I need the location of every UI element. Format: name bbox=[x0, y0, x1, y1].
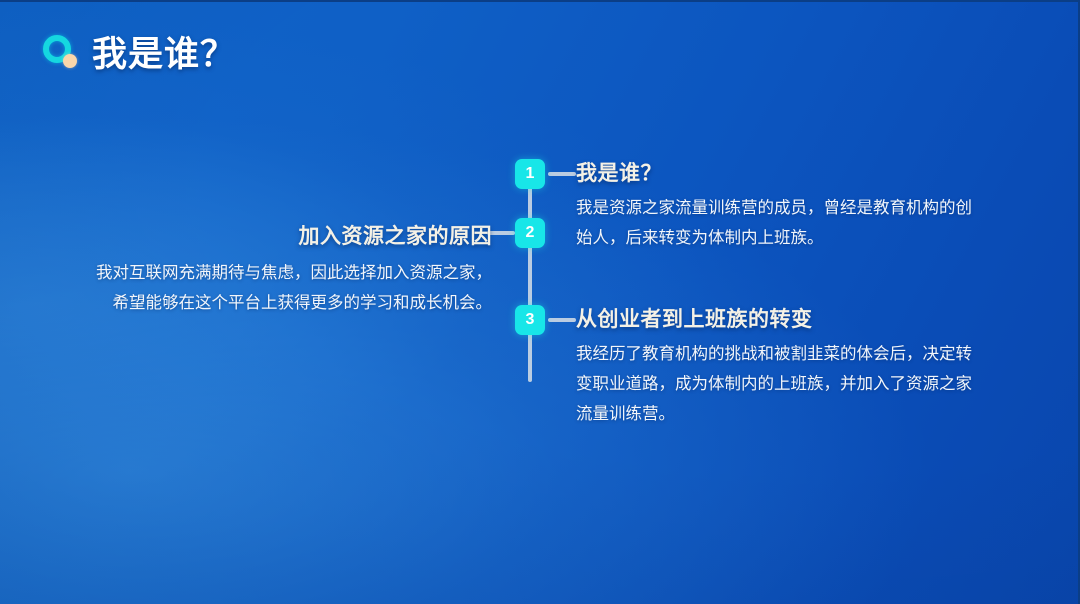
brand-logo bbox=[42, 34, 78, 70]
slide-canvas: 我是谁？ 1 2 3 我是谁？ 我是资源之家流量训练营的成员，曾经是教育机构的创… bbox=[0, 0, 1080, 604]
logo-accent-dot-icon bbox=[63, 54, 77, 68]
connector-line-1 bbox=[548, 172, 576, 176]
timeline-item-2-body: 我对互联网充满期待与焦虑，因此选择加入资源之家，希望能够在这个平台上获得更多的学… bbox=[88, 258, 492, 318]
page-title: 我是谁？ bbox=[92, 26, 236, 77]
slide-header: 我是谁？ bbox=[42, 26, 236, 77]
timeline-item-3: 从创业者到上班族的转变 我经历了教育机构的挑战和被割韭菜的体会后，决定转变职业道… bbox=[576, 303, 972, 429]
timeline-marker-3[interactable]: 3 bbox=[515, 305, 545, 335]
timeline-item-3-body: 我经历了教育机构的挑战和被割韭菜的体会后，决定转变职业道路，成为体制内的上班族，… bbox=[576, 339, 972, 429]
timeline-item-2-title: 加入资源之家的原因 bbox=[88, 220, 492, 250]
timeline-item-1: 我是谁？ 我是资源之家流量训练营的成员，曾经是教育机构的创始人，后来转变为体制内… bbox=[576, 157, 972, 253]
timeline-marker-2[interactable]: 2 bbox=[515, 218, 545, 248]
timeline-item-3-title: 从创业者到上班族的转变 bbox=[576, 303, 972, 333]
timeline-axis-line bbox=[528, 174, 532, 382]
timeline-marker-1[interactable]: 1 bbox=[515, 159, 545, 189]
connector-line-3 bbox=[548, 318, 576, 322]
timeline-item-2: 加入资源之家的原因 我对互联网充满期待与焦虑，因此选择加入资源之家，希望能够在这… bbox=[88, 220, 492, 318]
timeline-item-1-title: 我是谁？ bbox=[576, 157, 972, 187]
timeline-item-1-body: 我是资源之家流量训练营的成员，曾经是教育机构的创始人，后来转变为体制内上班族。 bbox=[576, 193, 972, 253]
